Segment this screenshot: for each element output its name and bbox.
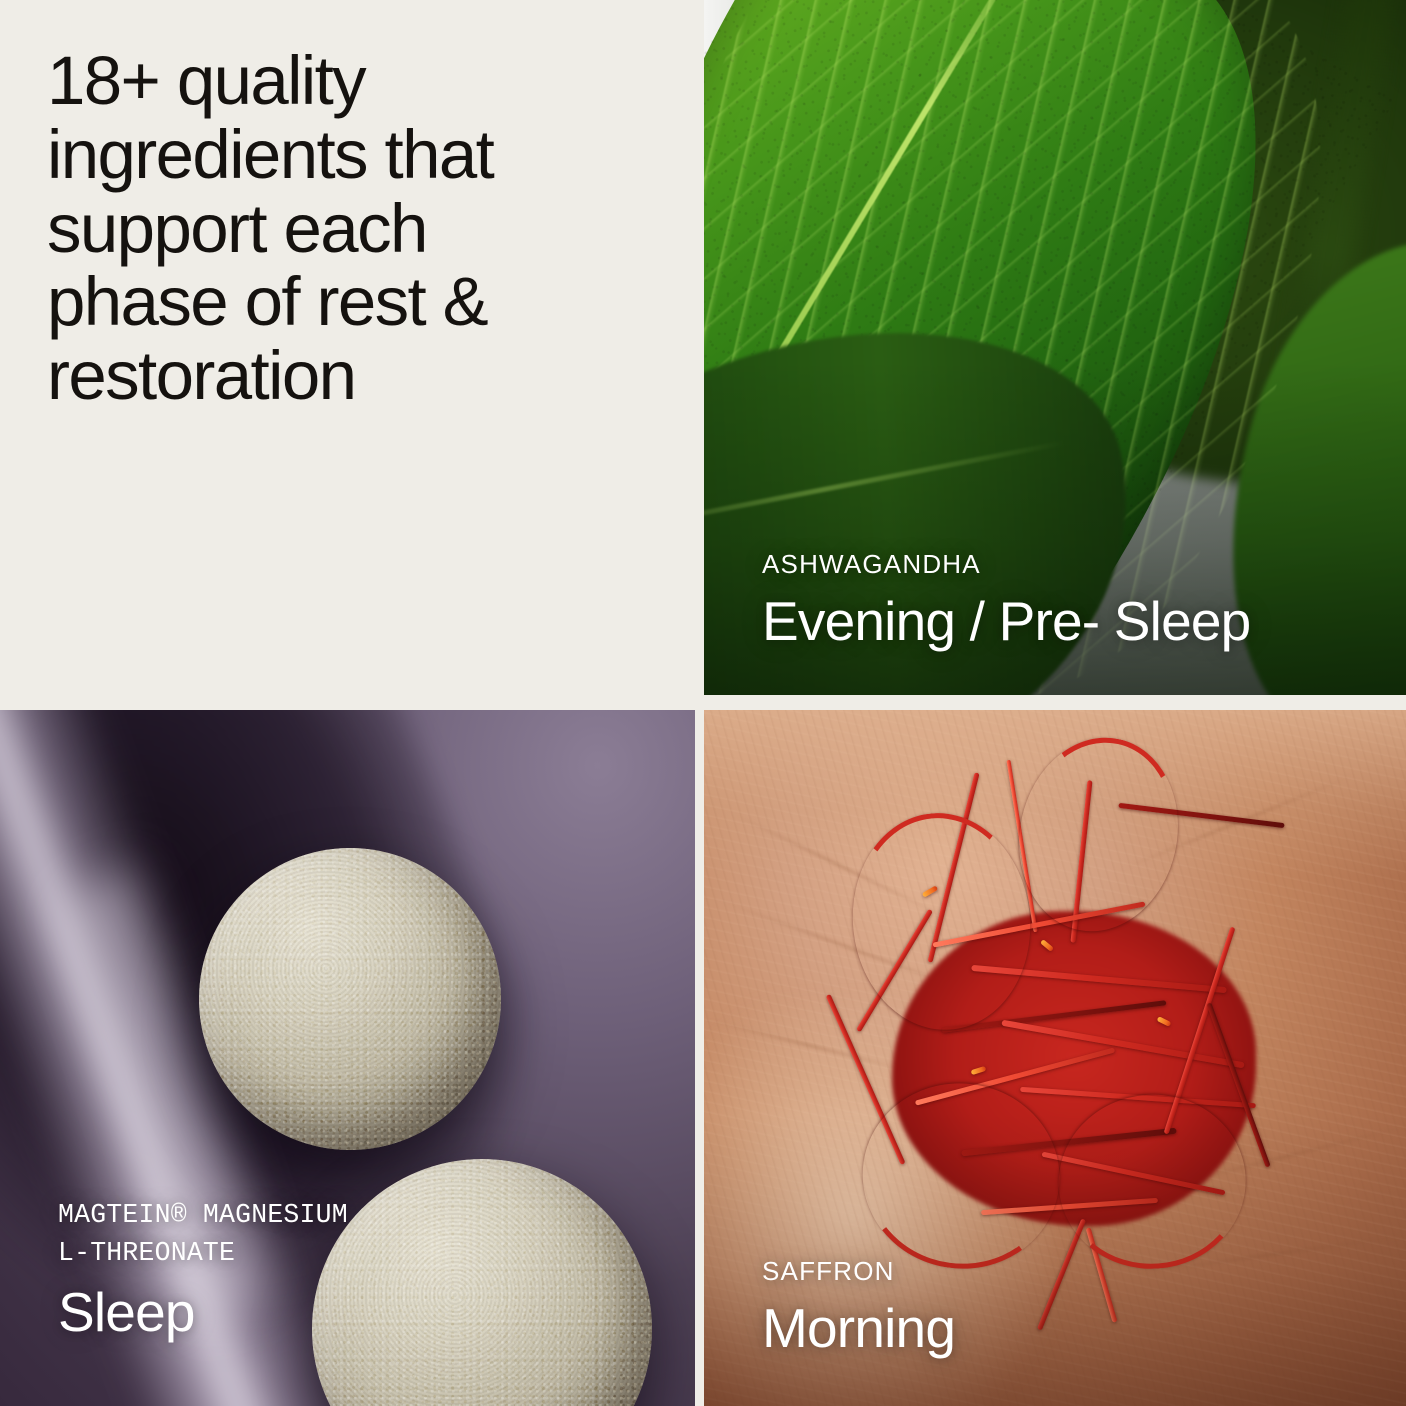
powder-tablet-upper (199, 848, 501, 1150)
headline-panel: 18+ quality ingredients that support eac… (0, 0, 695, 695)
magtein-caption: MAGTEIN® MAGNESIUM L-THREONATE Sleep (58, 1197, 348, 1344)
phase-label-magtein: Sleep (58, 1282, 348, 1344)
ingredient-card-saffron[interactable]: SAFFRON Morning (704, 710, 1406, 1406)
ingredient-card-ashwagandha[interactable]: ASHWAGANDHA Evening / Pre- Sleep (704, 0, 1406, 695)
saffron-caption: SAFFRON Morning (762, 1255, 955, 1360)
ingredient-phase-grid: 18+ quality ingredients that support eac… (0, 0, 1406, 1406)
ingredient-name-saffron: SAFFRON (762, 1255, 955, 1288)
ingredient-card-magtein[interactable]: MAGTEIN® MAGNESIUM L-THREONATE Sleep (0, 710, 695, 1406)
ashwagandha-caption: ASHWAGANDHA Evening / Pre- Sleep (762, 548, 1250, 653)
ingredient-name-magtein: MAGTEIN® MAGNESIUM L-THREONATE (58, 1197, 348, 1272)
page-title: 18+ quality ingredients that support eac… (47, 44, 647, 413)
phase-label-ashwagandha: Evening / Pre- Sleep (762, 591, 1250, 653)
ingredient-name-ashwagandha: ASHWAGANDHA (762, 548, 1250, 581)
phase-label-saffron: Morning (762, 1298, 955, 1360)
